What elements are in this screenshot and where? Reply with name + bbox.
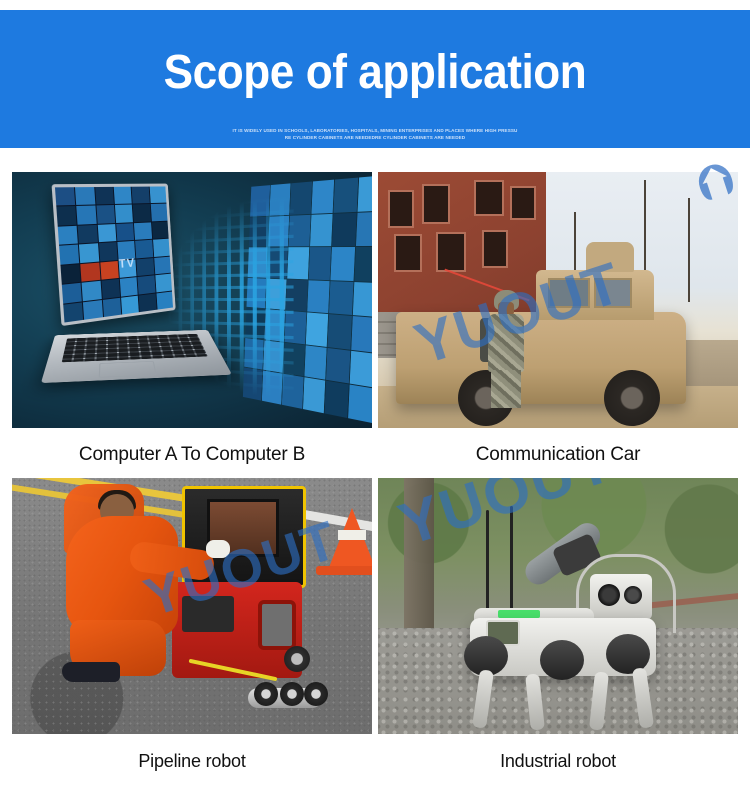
technician [60, 494, 190, 684]
gallery-item-pipeline-robot[interactable]: YUOUT Pipeline robot [12, 478, 372, 774]
laptop-screen: TV [52, 184, 176, 327]
page-title: Scope of application [30, 44, 720, 102]
gallery-item-industrial-robot[interactable]: YUOUT Industrial robot [378, 478, 738, 774]
communication-vehicle [396, 312, 686, 404]
gallery-item-caption: Pipeline robot [12, 734, 372, 774]
technician-coveralls [66, 516, 178, 636]
gallery-item-caption: Communication Car [378, 428, 738, 468]
pipeline-crawler-robot [240, 678, 340, 718]
photo-industrial-robot: YUOUT [378, 478, 738, 734]
vehicle-cab [536, 270, 654, 320]
windshield [548, 278, 590, 308]
photo-pipeline-robot: YUOUT [12, 478, 372, 734]
crawler-wheel [304, 682, 328, 706]
technician-shoe [62, 662, 120, 682]
robot-antenna [510, 506, 513, 620]
vehicle-wheel [604, 370, 660, 426]
building-window [436, 232, 466, 272]
photo-communication-car: YUOUT [378, 172, 738, 428]
building-window [422, 184, 450, 224]
photo-computer-a-to-computer-b: TV [12, 172, 372, 428]
cart-handle-cutout [258, 600, 296, 650]
cart-wheel [284, 646, 310, 672]
vehicle-turret [586, 242, 634, 272]
traffic-cone-base [316, 566, 372, 575]
gallery-item-caption: Industrial robot [378, 734, 738, 774]
crawler-wheel [280, 682, 304, 706]
building-window [510, 186, 536, 220]
antenna-mast [688, 198, 690, 302]
building-window [482, 230, 508, 268]
technician-glove [206, 540, 230, 558]
building-window [394, 234, 422, 272]
gallery-item-caption: Computer A To Computer B [12, 428, 372, 468]
screen-tv-label: TV [118, 256, 135, 271]
building-window [388, 190, 414, 228]
soldier-torso [488, 314, 524, 372]
crawler-wheel [254, 682, 278, 706]
gallery-grid: TV Computer A To Computer B [0, 148, 750, 798]
robot-status-led [498, 610, 540, 618]
gallery-item-computer-a-to-computer-b[interactable]: TV Computer A To Computer B [12, 172, 372, 468]
screen-tile-grid [55, 186, 173, 322]
header-subtitle: IT IS WIDELY USED IN SCHOOLS, LABORATORI… [0, 128, 750, 141]
traffic-cone-stripe [338, 530, 366, 540]
gallery-item-communication-car[interactable]: YUOUT Communication Car ⮉ [378, 172, 738, 468]
laptop-trackpad [99, 361, 157, 378]
camera-lens [598, 584, 620, 606]
application-scope-page: Scope of application IT IS WIDELY USED I… [0, 0, 750, 798]
camera-lens [624, 586, 642, 604]
robot-camera-module [590, 574, 652, 620]
robot-hip-joint [540, 640, 584, 680]
side-window [594, 278, 632, 308]
soldier-legs [491, 370, 521, 408]
equipment-cart [172, 582, 302, 678]
laptop-keyboard [62, 334, 208, 362]
laptop-base [41, 330, 232, 383]
building-window [474, 180, 504, 216]
robot-antenna [486, 510, 489, 620]
header-banner: Scope of application IT IS WIDELY USED I… [0, 10, 750, 148]
soldier [484, 290, 528, 408]
